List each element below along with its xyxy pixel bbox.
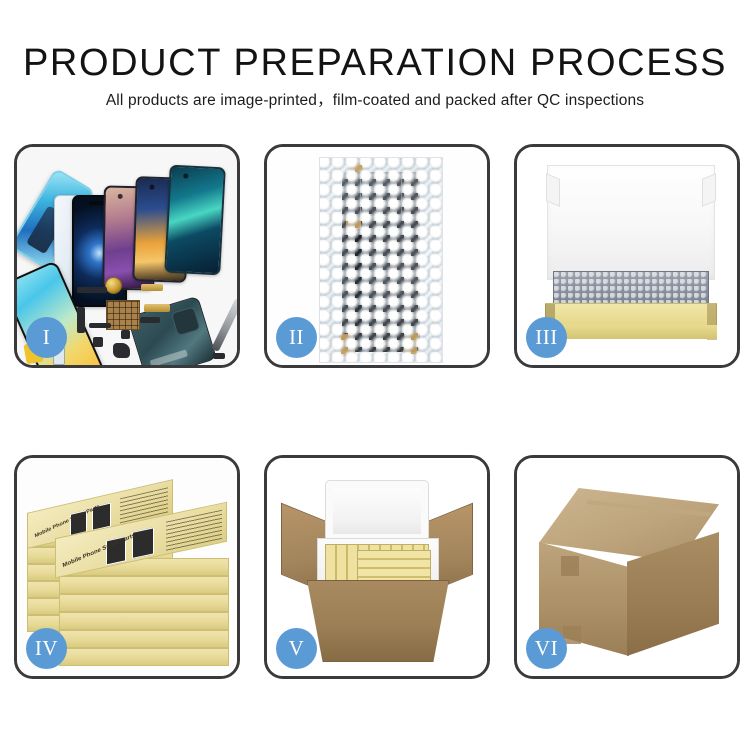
stacked-box-slab: [59, 612, 229, 630]
process-step-panel-2: II: [264, 144, 490, 368]
stacked-box-slab: [59, 630, 229, 648]
carton-body: [307, 580, 449, 662]
chip-array-part: [106, 300, 140, 330]
process-steps-grid: I II: [14, 144, 740, 678]
process-step-panel-1: I: [14, 144, 240, 368]
stacked-box-slab: [59, 648, 229, 666]
process-step-panel-6: VI: [514, 455, 740, 679]
process-step-panel-5: V: [264, 455, 490, 679]
bubble-padding-shape: [553, 271, 709, 305]
product-preparation-process-page: PRODUCT PREPARATION PROCESS All products…: [0, 0, 750, 750]
header: PRODUCT PREPARATION PROCESS All products…: [0, 0, 750, 130]
flex-cable-part: [140, 317, 160, 323]
step-badge-3: III: [526, 317, 567, 358]
vibration-motor-part: [105, 277, 122, 294]
stacked-box-slab: [59, 576, 229, 594]
step-badge-5: V: [276, 628, 317, 669]
box-art-swatch: [132, 527, 154, 559]
white-box-lid-shape: [547, 165, 715, 280]
phone-teal-shape: [164, 165, 226, 276]
page-subtitle: All products are image-printed，film-coat…: [0, 88, 750, 110]
screw-part: [213, 353, 225, 359]
small-chip-part: [93, 337, 103, 347]
bubble-texture: [320, 158, 442, 362]
page-title: PRODUCT PREPARATION PROCESS: [0, 42, 750, 85]
gold-connector-part: [144, 304, 170, 312]
process-step-panel-4: Mobile Phone Spare Parts: [14, 455, 240, 679]
carton-tab: [561, 556, 579, 576]
bubble-bag-shape: [319, 157, 443, 363]
step-badge-4: IV: [26, 628, 67, 669]
step-badge-1: I: [26, 317, 67, 358]
speaker-module-part: [113, 343, 130, 358]
gold-connector-part: [141, 284, 163, 291]
flex-cable-part: [77, 307, 85, 333]
step-badge-6: VI: [526, 628, 567, 669]
yellow-box-front-shape: [545, 325, 717, 339]
flex-cable-part: [89, 323, 111, 328]
process-step-panel-3: III: [514, 144, 740, 368]
flex-cable-part: [77, 287, 107, 293]
small-chip-part: [121, 330, 130, 339]
step-badge-2: II: [276, 317, 317, 358]
foam-cooler-lid: [325, 480, 429, 542]
stacked-box-slab: [59, 594, 229, 612]
